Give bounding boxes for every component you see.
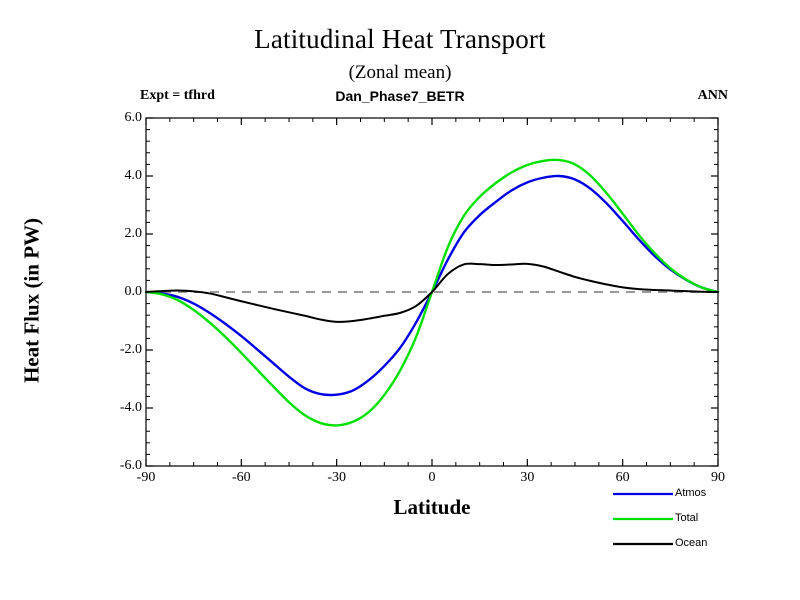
x-tick-label: 90	[688, 470, 748, 486]
season-label: ANN	[698, 88, 728, 104]
legend-label-atmos: Atmos	[675, 487, 706, 499]
y-tick-label: 0.0	[96, 284, 142, 300]
x-tick-label: -30	[307, 470, 367, 486]
x-tick-label: -60	[211, 470, 271, 486]
y-tick-label: 4.0	[96, 168, 142, 184]
x-tick-label: 60	[593, 470, 653, 486]
y-tick-label: -4.0	[96, 400, 142, 416]
chart-figure: Latitudinal Heat Transport (Zonal mean) …	[0, 0, 800, 600]
series-line-atmos	[146, 176, 718, 395]
x-tick-label: 0	[402, 470, 462, 486]
y-tick-label: 2.0	[96, 226, 142, 242]
y-tick-label: 6.0	[96, 110, 142, 126]
x-axis-label: Latitude	[146, 495, 718, 520]
x-tick-label: 30	[497, 470, 557, 486]
y-axis-tick-labels: -6.0-4.0-2.00.02.04.06.0	[46, 0, 142, 600]
y-axis-label: Heat Flux (in PW)	[20, 171, 45, 431]
x-tick-label: -90	[116, 470, 176, 486]
legend-label-total: Total	[675, 512, 698, 524]
y-tick-label: -2.0	[96, 342, 142, 358]
experiment-label: Expt = tfhrd	[140, 88, 215, 104]
legend-label-ocean: Ocean	[675, 537, 707, 549]
